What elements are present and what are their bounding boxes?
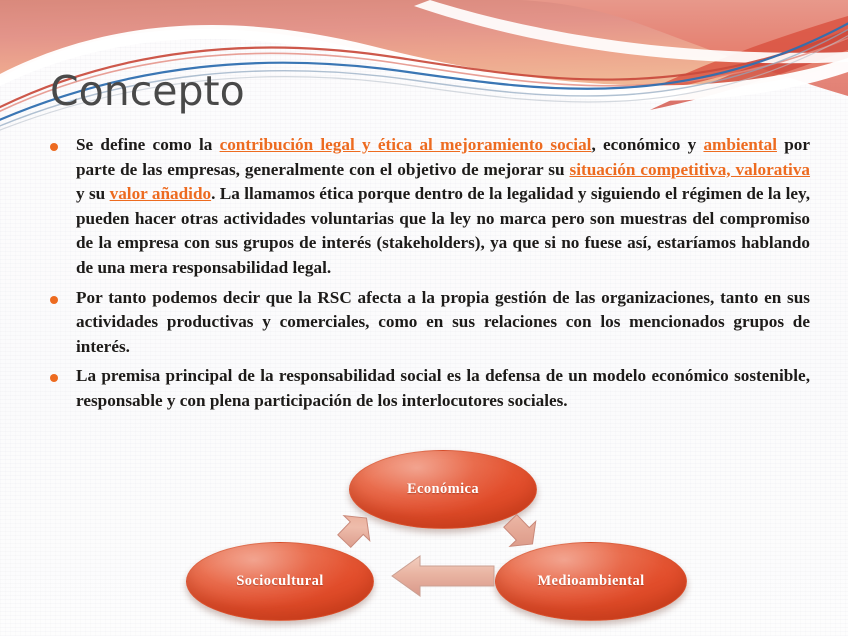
- page-title: Concepto: [50, 68, 245, 114]
- slide-canvas: Concepto Se define como la contribución …: [0, 0, 848, 636]
- cycle-diagram: Económica Sociocultural Medioambiental: [0, 432, 848, 636]
- diagram-node-label: Medioambiental: [537, 573, 644, 590]
- arrow-sociocultural-to-economica-icon: [322, 500, 386, 562]
- bullet-list: Se define como la contribución legal y é…: [42, 133, 810, 419]
- bullet-paragraph-2: Por tanto podemos decir que la RSC afect…: [76, 286, 810, 360]
- diagram-node-label: Económica: [407, 481, 479, 498]
- list-item: La premisa principal de la responsabilid…: [42, 364, 810, 413]
- hyperlink[interactable]: ambiental: [703, 135, 777, 154]
- list-item: Se define como la contribución legal y é…: [42, 133, 810, 281]
- diagram-node-label: Sociocultural: [236, 573, 323, 590]
- page-title-wrapper: Concepto: [50, 68, 245, 114]
- arrow-medioambiental-to-sociocultural-icon: [386, 550, 498, 602]
- bullet-dot-icon: [50, 296, 58, 304]
- bullet-dot-icon: [50, 374, 58, 382]
- bullet-paragraph-3: La premisa principal de la responsabilid…: [76, 364, 810, 413]
- hyperlink[interactable]: contribución legal y ética al mejoramien…: [220, 135, 592, 154]
- hyperlink[interactable]: situación competitiva, valorativa: [570, 160, 811, 179]
- bullet-paragraph-1: Se define como la contribución legal y é…: [76, 133, 810, 281]
- list-item: Por tanto podemos decir que la RSC afect…: [42, 286, 810, 360]
- bullet-dot-icon: [50, 143, 58, 151]
- hyperlink[interactable]: valor añadido: [110, 184, 212, 203]
